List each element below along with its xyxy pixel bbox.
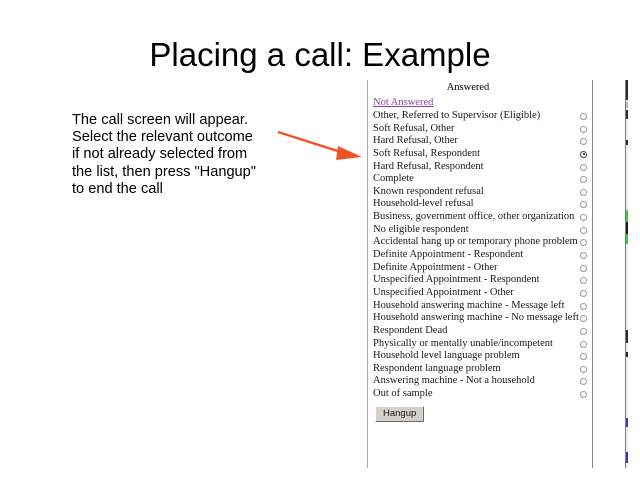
outcome-label: Hard Refusal, Respondent: [373, 161, 484, 173]
outcome-radio-button[interactable]: [580, 290, 587, 297]
outcome-radio-button[interactable]: [580, 126, 587, 133]
hangup-button[interactable]: Hangup: [375, 406, 424, 422]
presentation-slide: Placing a call: Example The call screen …: [0, 0, 640, 480]
answered-column-header: Answered: [368, 82, 568, 93]
outcome-label: Soft Refusal, Respondent: [373, 148, 480, 160]
outcome-label: Definite Appointment - Respondent: [373, 249, 523, 261]
outcome-radio-button[interactable]: [580, 265, 587, 272]
outcome-label: Soft Refusal, Other: [373, 123, 454, 135]
outcome-radio-button[interactable]: [580, 176, 587, 183]
outcome-label: Household level language problem: [373, 350, 520, 362]
outcome-row[interactable]: Answering machine - Not a household: [368, 375, 593, 388]
outcome-label: Household answering machine - No message…: [373, 312, 579, 324]
instruction-line: if not already selected from: [72, 146, 284, 163]
outcome-label: Respondent language problem: [373, 363, 501, 375]
outcome-label: Definite Appointment - Other: [373, 262, 498, 274]
outcome-row[interactable]: Out of sample: [368, 388, 593, 401]
outcome-row[interactable]: Definite Appointment - Other: [368, 262, 593, 275]
instruction-line: to end the call: [72, 181, 284, 198]
outcome-radio-button[interactable]: [580, 353, 587, 360]
outcome-label: Physically or mentally unable/incompeten…: [373, 338, 553, 350]
outcome-row[interactable]: Complete: [368, 173, 593, 186]
outcome-label: Known respondent refusal: [373, 186, 484, 198]
instruction-line: the list, then press "Hangup": [72, 164, 284, 181]
outcome-row[interactable]: Physically or mentally unable/incompeten…: [368, 338, 593, 351]
outcome-row[interactable]: Definite Appointment - Respondent: [368, 249, 593, 262]
outcome-row[interactable]: Household answering machine - No message…: [368, 312, 593, 325]
instruction-line: Select the relevant outcome: [72, 129, 284, 146]
outcome-row[interactable]: Household answering machine - Message le…: [368, 300, 593, 313]
outcome-radio-button[interactable]: [580, 303, 587, 310]
outcome-row[interactable]: Known respondent refusal: [368, 186, 593, 199]
instruction-text-block: The call screen will appear. Select the …: [72, 112, 284, 198]
outcome-row[interactable]: Hard Refusal, Other: [368, 135, 593, 148]
page-title: Placing a call: Example: [0, 36, 640, 74]
outcome-label: Household-level refusal: [373, 198, 474, 210]
outcome-label: Business, government office, other organ…: [373, 211, 574, 223]
outcome-label: Out of sample: [373, 388, 433, 400]
instruction-line: The call screen will appear.: [72, 112, 284, 129]
outcome-label: Household answering machine - Message le…: [373, 300, 565, 312]
outcome-row[interactable]: Business, government office, other organ…: [368, 211, 593, 224]
outcome-label: Other, Referred to Supervisor (Eligible): [373, 110, 540, 122]
panel-scrollbar-edge[interactable]: [625, 80, 628, 468]
outcome-radio-button[interactable]: [580, 239, 587, 246]
outcome-radio-button[interactable]: [580, 315, 587, 322]
outcome-row[interactable]: Hard Refusal, Respondent: [368, 161, 593, 174]
outcome-label: Accidental hang up or temporary phone pr…: [373, 236, 578, 248]
outcome-radio-button[interactable]: [580, 391, 587, 398]
outcome-radio-button[interactable]: [580, 164, 587, 171]
outcome-radio-button[interactable]: [580, 113, 587, 120]
outcome-label: Complete: [373, 173, 414, 185]
outcome-row[interactable]: Household-level refusal: [368, 198, 593, 211]
outcome-radio-button[interactable]: [580, 214, 587, 221]
outcome-row[interactable]: Soft Refusal, Other: [368, 123, 593, 136]
call-outcome-list: Other, Referred to Supervisor (Eligible)…: [368, 110, 593, 401]
outcome-radio-button[interactable]: [580, 378, 587, 385]
outcome-label: Unspecified Appointment - Other: [373, 287, 514, 299]
outcome-radio-button[interactable]: [580, 189, 587, 196]
outcome-radio-button[interactable]: [580, 201, 587, 208]
outcome-radio-button[interactable]: [580, 151, 587, 158]
outcome-radio-button[interactable]: [580, 341, 587, 348]
outcome-row[interactable]: Respondent Dead: [368, 325, 593, 338]
outcome-label: No eligible respondent: [373, 224, 469, 236]
outcome-label: Answering machine - Not a household: [373, 375, 535, 387]
outcome-label: Hard Refusal, Other: [373, 135, 458, 147]
outcome-radio-button[interactable]: [580, 138, 587, 145]
outcome-row[interactable]: Unspecified Appointment - Other: [368, 287, 593, 300]
outcome-row[interactable]: Accidental hang up or temporary phone pr…: [368, 236, 593, 249]
not-answered-link[interactable]: Not Answered: [373, 97, 433, 108]
outcome-radio-button[interactable]: [580, 277, 587, 284]
outcome-row[interactable]: Respondent language problem: [368, 363, 593, 376]
outcome-label: Respondent Dead: [373, 325, 447, 337]
pointer-arrow-icon: [272, 122, 368, 166]
outcome-radio-button[interactable]: [580, 252, 587, 259]
outcome-row[interactable]: Unspecified Appointment - Respondent: [368, 274, 593, 287]
outcome-radio-button[interactable]: [580, 227, 587, 234]
outcome-row[interactable]: Other, Referred to Supervisor (Eligible): [368, 110, 593, 123]
call-screen-screenshot: Answered Not Answered Other, Referred to…: [367, 80, 593, 468]
outcome-row[interactable]: Soft Refusal, Respondent: [368, 148, 593, 161]
outcome-row[interactable]: No eligible respondent: [368, 224, 593, 237]
outcome-radio-button[interactable]: [580, 366, 587, 373]
outcome-radio-button[interactable]: [580, 328, 587, 335]
outcome-label: Unspecified Appointment - Respondent: [373, 274, 540, 286]
outcome-row[interactable]: Household level language problem: [368, 350, 593, 363]
